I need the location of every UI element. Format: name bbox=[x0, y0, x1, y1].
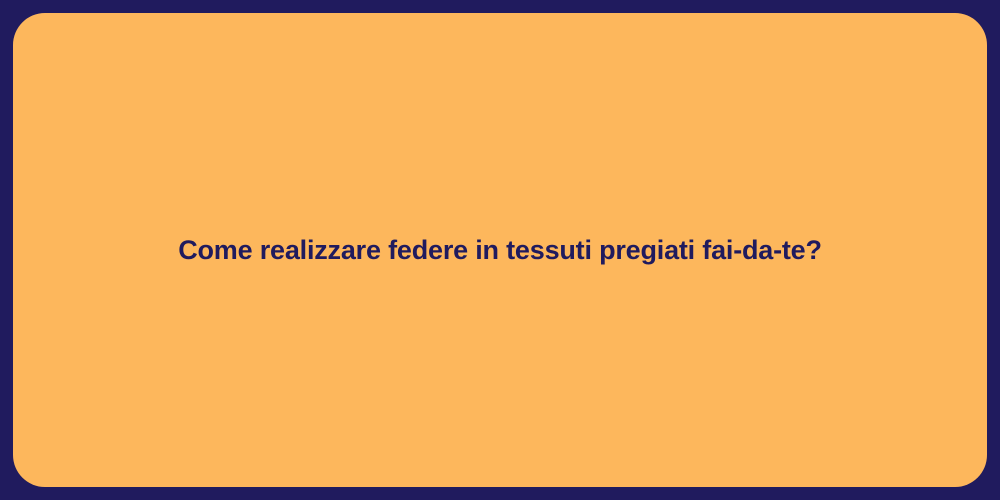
page-title: Come realizzare federe in tessuti pregia… bbox=[130, 232, 870, 268]
hero-frame: Come realizzare federe in tessuti pregia… bbox=[0, 0, 1000, 500]
hero-card: Come realizzare federe in tessuti pregia… bbox=[13, 13, 987, 487]
